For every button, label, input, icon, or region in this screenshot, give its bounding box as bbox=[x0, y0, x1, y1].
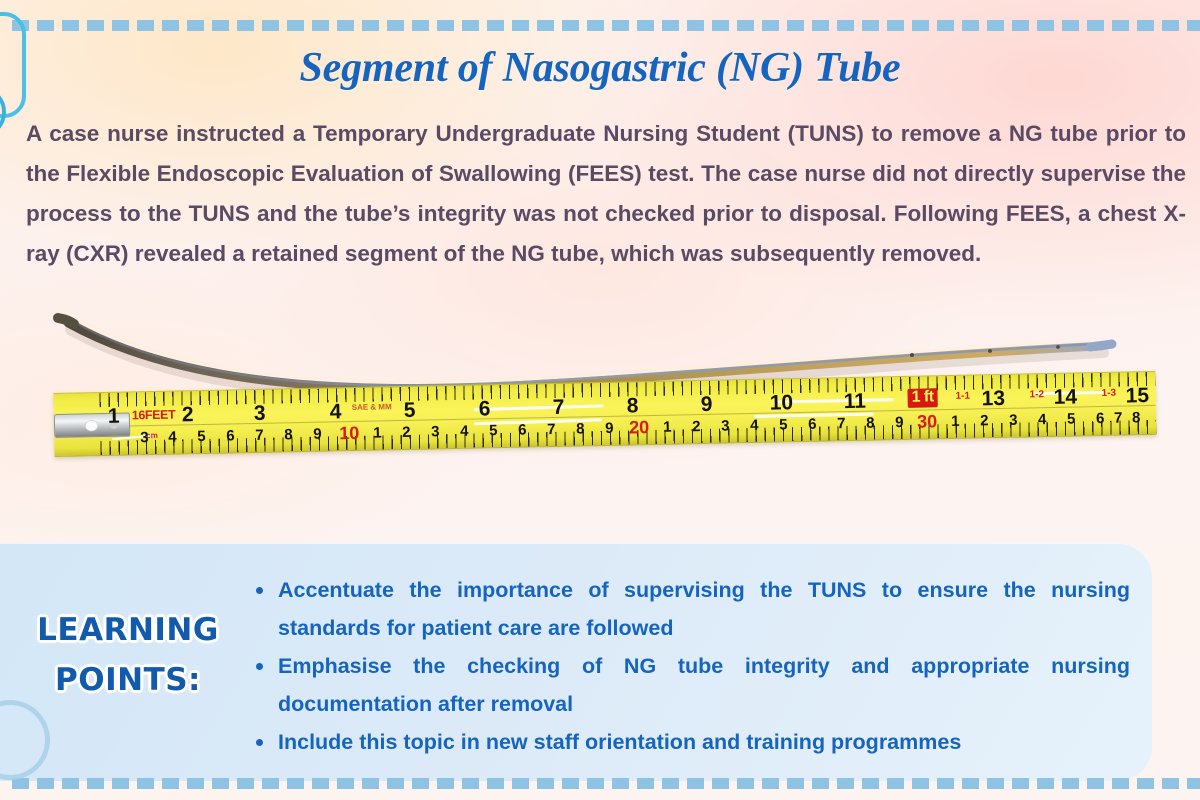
tape-cm-37: 7 bbox=[1114, 411, 1123, 426]
learning-point-text-3: Include this topic in new staff orientat… bbox=[278, 730, 961, 754]
tape-cm-38: 8 bbox=[1132, 410, 1141, 425]
tape-inch-10: 10 bbox=[769, 392, 793, 413]
tape-cm-14: 4 bbox=[460, 424, 469, 439]
tape-inch-1: 1 bbox=[108, 406, 120, 427]
tape-cm-16: 6 bbox=[518, 423, 527, 438]
tape-cm-23: 3 bbox=[721, 418, 730, 433]
tape-cm-5: 5 bbox=[197, 429, 206, 444]
tape-cm-28: 8 bbox=[866, 416, 875, 431]
tape-inch-13: 13 bbox=[981, 388, 1005, 409]
tape-cm-34: 4 bbox=[1038, 412, 1047, 427]
specimen-photo: 1 2 3 4 5 6 7 8 9 10 11 13 14 15 1 ft 1-… bbox=[40, 285, 1160, 495]
tape-cm-36: 6 bbox=[1096, 411, 1105, 426]
tape-cm-9: 9 bbox=[313, 427, 322, 442]
tape-cm-13: 3 bbox=[431, 424, 440, 439]
case-description-paragraph: A case nurse instructed a Temporary Unde… bbox=[26, 114, 1186, 274]
learning-points-panel: LEARNING POINTS: Accentuate the importan… bbox=[0, 543, 1152, 781]
tape-inch-6: 6 bbox=[479, 398, 491, 419]
list-item: Accentuate the importance of supervising… bbox=[250, 571, 1130, 647]
tape-cm-15: 5 bbox=[489, 423, 498, 438]
tape-inch-7: 7 bbox=[553, 397, 565, 418]
tape-glare-1 bbox=[474, 404, 604, 411]
top-dashed-border bbox=[12, 20, 1200, 31]
tape-small-print: SAE & MM bbox=[352, 403, 392, 412]
tape-cm-12: 2 bbox=[402, 425, 411, 440]
tape-cm-20: 20 bbox=[629, 418, 649, 436]
tape-cm-21: 1 bbox=[663, 420, 672, 435]
tape-cm-10: 10 bbox=[339, 424, 359, 442]
tape-cm-22: 2 bbox=[692, 419, 701, 434]
tape-foot-sub-2: 1-2 bbox=[1030, 390, 1045, 400]
page-title: Segment of Nasogastric (NG) Tube bbox=[0, 44, 1200, 92]
tape-cm-6: 6 bbox=[226, 428, 235, 443]
learning-points-heading-line1: LEARNING bbox=[22, 605, 234, 655]
tape-brand-16feet: 16FEET bbox=[132, 409, 176, 422]
tape-foot-sub-3: 1-3 bbox=[1101, 389, 1116, 399]
poster-root: Segment of Nasogastric (NG) Tube A case … bbox=[0, 0, 1200, 800]
tape-inch-9: 9 bbox=[701, 394, 713, 415]
learning-points-heading: LEARNING POINTS: bbox=[22, 605, 234, 705]
tape-cm-19: 9 bbox=[605, 421, 614, 436]
list-item: Include this topic in new staff orientat… bbox=[250, 723, 1130, 761]
tape-cm-4: 4 bbox=[168, 430, 177, 445]
tape-inch-14: 14 bbox=[1053, 386, 1077, 407]
tape-cm-32: 2 bbox=[980, 413, 989, 428]
tape-cm-8: 8 bbox=[284, 427, 293, 442]
tape-inch-15: 15 bbox=[1125, 385, 1149, 406]
tape-cm-35: 5 bbox=[1067, 412, 1076, 427]
tape-cm-24: 4 bbox=[750, 418, 759, 433]
learning-point-text-1: Accentuate the importance of supervising… bbox=[278, 578, 1130, 640]
tape-cm-31: 1 bbox=[951, 414, 960, 429]
tape-inch-11: 11 bbox=[843, 391, 866, 412]
tape-hook-hole bbox=[85, 420, 98, 431]
tape-cm-18: 8 bbox=[576, 421, 585, 436]
tape-cm-25: 5 bbox=[779, 417, 788, 432]
tape-cm-30: 30 bbox=[917, 412, 937, 430]
tape-cm-27: 7 bbox=[837, 416, 846, 431]
tape-cm-29: 9 bbox=[895, 415, 904, 430]
tape-inch-3: 3 bbox=[254, 403, 266, 424]
tape-cm-17: 7 bbox=[547, 422, 556, 437]
tape-cm-26: 6 bbox=[808, 417, 817, 432]
bottom-dashed-border bbox=[12, 778, 1200, 789]
tape-inch-5: 5 bbox=[404, 400, 416, 421]
tape-foot-sub-1: 1-1 bbox=[956, 392, 971, 402]
learning-point-text-2: Emphasise the checking of NG tube integr… bbox=[278, 654, 1130, 716]
tape-cm-11: 1 bbox=[373, 425, 382, 440]
tape-cm-3: 3 bbox=[140, 430, 149, 445]
tape-inch-2: 2 bbox=[182, 404, 194, 425]
tape-foot-badge: 1 ft bbox=[907, 388, 937, 408]
tape-inch-8: 8 bbox=[627, 395, 639, 416]
list-item: Emphasise the checking of NG tube integr… bbox=[250, 647, 1130, 723]
learning-points-heading-line2: POINTS: bbox=[22, 655, 234, 705]
learning-points-list: Accentuate the importance of supervising… bbox=[250, 571, 1130, 761]
tape-cm-7: 7 bbox=[255, 428, 264, 443]
tape-cm-33: 3 bbox=[1009, 413, 1018, 428]
tape-inch-4: 4 bbox=[330, 401, 342, 422]
